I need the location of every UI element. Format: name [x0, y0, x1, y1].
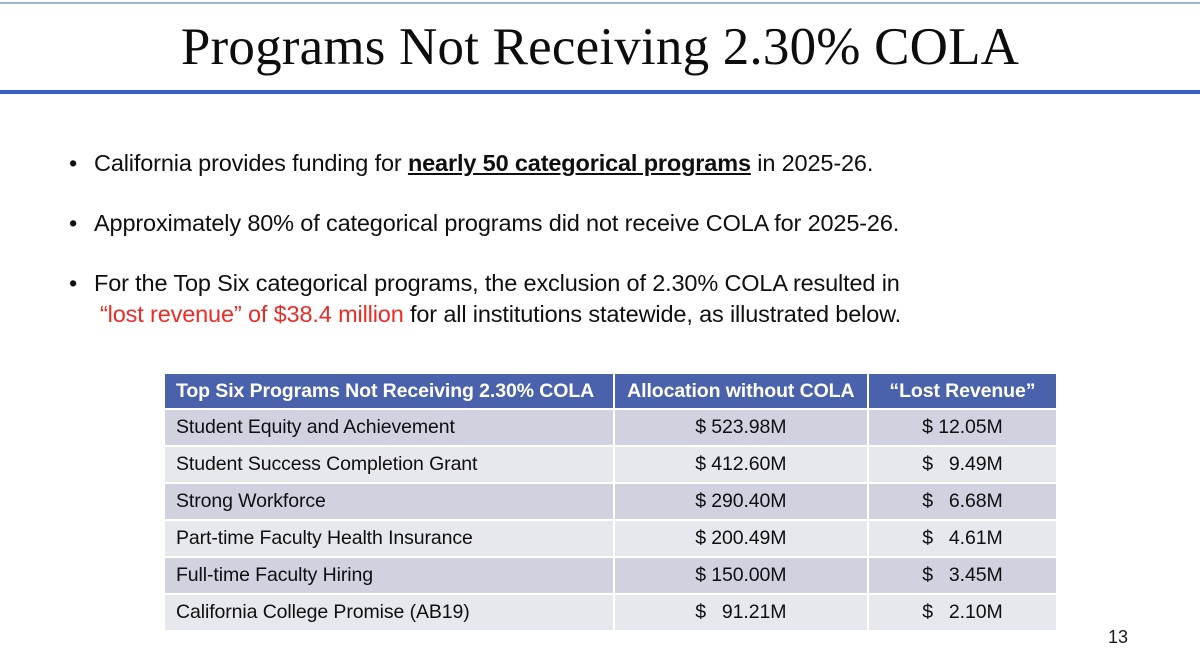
cell-lost-revenue: $ 12.05M: [869, 410, 1056, 445]
title-divider-rule: [0, 90, 1200, 94]
cell-program: California College Promise (AB19): [165, 595, 613, 630]
table-row: Strong Workforce $ 290.40M $ 6.68M: [165, 484, 1056, 519]
cell-allocation: $ 91.21M: [615, 595, 867, 630]
page-title: Programs Not Receiving 2.30% COLA: [0, 14, 1200, 80]
bullet-2-text: Approximately 80% of categorical program…: [94, 210, 899, 236]
cell-allocation: $ 523.98M: [615, 410, 867, 445]
bullet-marker-icon: •: [69, 268, 77, 299]
cell-program: Student Equity and Achievement: [165, 410, 613, 445]
table-header: Top Six Programs Not Receiving 2.30% COL…: [165, 374, 1056, 408]
cell-allocation: $ 290.40M: [615, 484, 867, 519]
table-header-row: Top Six Programs Not Receiving 2.30% COL…: [165, 374, 1056, 408]
bullet-list: •California provides funding for nearly …: [66, 148, 1146, 330]
table-row: Student Equity and Achievement $ 523.98M…: [165, 410, 1056, 445]
bullet-marker-icon: •: [69, 208, 77, 239]
bullet-3-highlight: “lost revenue” of $38.4 million: [100, 301, 404, 327]
table-body: Student Equity and Achievement $ 523.98M…: [165, 410, 1056, 630]
cell-allocation: $ 150.00M: [615, 558, 867, 593]
bullet-item-3: •For the Top Six categorical programs, t…: [66, 268, 1146, 330]
column-header-lost-revenue: “Lost Revenue”: [869, 374, 1056, 408]
bullet-item-1: •California provides funding for nearly …: [66, 148, 1146, 179]
page-number: 13: [1108, 626, 1128, 648]
cell-program: Student Success Completion Grant: [165, 447, 613, 482]
cell-lost-revenue: $ 2.10M: [869, 595, 1056, 630]
table-row: California College Promise (AB19) $ 91.2…: [165, 595, 1056, 630]
table-row: Student Success Completion Grant $ 412.6…: [165, 447, 1056, 482]
bullet-3-line1: For the Top Six categorical programs, th…: [94, 270, 900, 296]
bullet-item-2: •Approximately 80% of categorical progra…: [66, 208, 1146, 239]
table-row: Part-time Faculty Health Insurance $ 200…: [165, 521, 1056, 556]
cell-lost-revenue: $ 3.45M: [869, 558, 1056, 593]
cell-allocation: $ 200.49M: [615, 521, 867, 556]
bullet-1-text-part1: California provides funding for: [94, 150, 408, 176]
column-header-allocation: Allocation without COLA: [615, 374, 867, 408]
bullet-3-line2-rest: for all institutions statewide, as illus…: [404, 301, 901, 327]
bullet-1-emphasis: nearly 50 categorical programs: [408, 150, 751, 176]
column-header-program: Top Six Programs Not Receiving 2.30% COL…: [165, 374, 613, 408]
cell-lost-revenue: $ 9.49M: [869, 447, 1056, 482]
cell-allocation: $ 412.60M: [615, 447, 867, 482]
bullet-marker-icon: •: [69, 148, 77, 179]
table-row: Full-time Faculty Hiring $ 150.00M $ 3.4…: [165, 558, 1056, 593]
cell-program: Part-time Faculty Health Insurance: [165, 521, 613, 556]
cell-program: Full-time Faculty Hiring: [165, 558, 613, 593]
cell-program: Strong Workforce: [165, 484, 613, 519]
cell-lost-revenue: $ 4.61M: [869, 521, 1056, 556]
bullet-3-line2: “lost revenue” of $38.4 million for all …: [94, 299, 1146, 330]
cell-lost-revenue: $ 6.68M: [869, 484, 1056, 519]
top-accent-rule: [0, 2, 1200, 4]
bullet-1-text-part2: in 2025-26.: [751, 150, 873, 176]
cola-programs-table: Top Six Programs Not Receiving 2.30% COL…: [163, 372, 1058, 632]
